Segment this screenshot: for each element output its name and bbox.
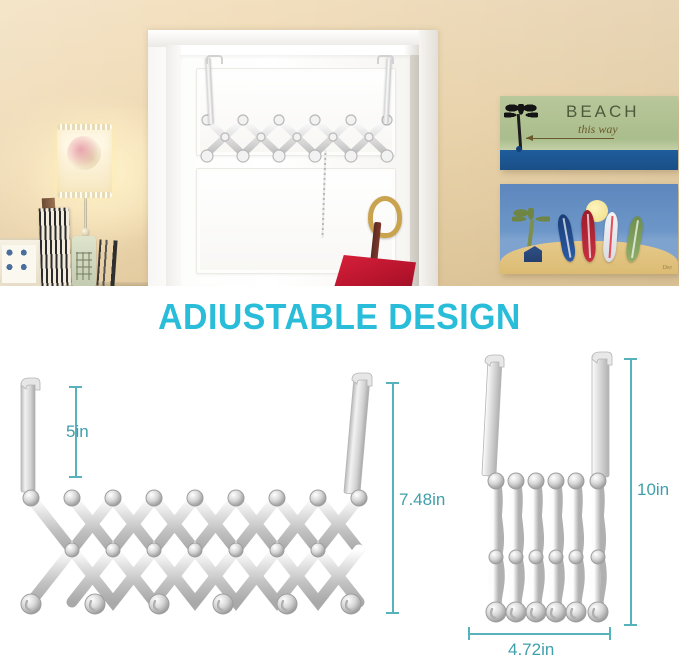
- expanded-rack-diagram: 5in 7.48in 22in: [0, 350, 440, 667]
- dim-748in-line: [392, 382, 394, 614]
- picture-frame-art: [2, 245, 36, 283]
- expanded-rack-drawing: [0, 350, 440, 667]
- door-jamb-left: [166, 45, 181, 286]
- dimension-diagrams: 5in 7.48in 22in: [0, 350, 679, 667]
- notebook-stack: [39, 208, 72, 286]
- wall-art-surfboards: Dee: [500, 184, 678, 274]
- collapsed-over-door-straps: [482, 352, 612, 477]
- dim-5in-cap-top: [69, 386, 82, 388]
- collapsed-rack-diagram: 10in 4.72in: [440, 350, 679, 667]
- lamp-bead-trim-bottom: [57, 192, 112, 198]
- dim-748in-cap-top: [386, 382, 399, 384]
- mounted-coat-rack: [195, 68, 400, 208]
- expanded-rivets: [23, 490, 367, 557]
- dim-10in-cap-top: [624, 358, 637, 360]
- over-door-hook-left-icon: [206, 55, 223, 64]
- collapsed-rivets: [488, 473, 606, 564]
- wall-art-beach-sign: BEACH this way: [500, 96, 678, 170]
- palm-tree-crown-icon: [504, 104, 538, 126]
- pen-holder: [96, 239, 117, 286]
- dim-10in-label: 10in: [637, 480, 669, 500]
- page-title: ADIUSTABLE DESIGN: [20, 296, 658, 338]
- mounted-rack-lattice: [195, 68, 400, 183]
- collapsed-hooks: [486, 602, 608, 622]
- over-door-hook-right-icon: [377, 55, 394, 64]
- infographic-page: BEACH this way Dee: [0, 0, 679, 667]
- beach-sign-subtext: this way: [578, 122, 618, 137]
- surfboard-4-stripe: [631, 220, 639, 258]
- dim-748in-label: 7.48in: [399, 490, 445, 510]
- coconut-icon: [516, 146, 522, 152]
- beach-sign-heading: BEACH: [566, 102, 640, 122]
- dim-748in-cap-bottom: [386, 612, 399, 614]
- collapsed-rack-drawing: [440, 350, 679, 667]
- surfboard-1-stripe: [562, 218, 571, 258]
- dim-472in-cap-right: [609, 627, 611, 640]
- lamp-shade: [57, 126, 112, 196]
- dim-10in-cap-bottom: [624, 624, 637, 626]
- cordless-phone: [72, 236, 96, 286]
- surfboard-2-stripe: [587, 214, 591, 258]
- collapsed-lattice: [493, 480, 601, 608]
- door-edge: [410, 55, 419, 286]
- lamp-bead-trim-top: [57, 124, 112, 130]
- lamp-shade-pattern: [67, 136, 101, 170]
- left-arrow-icon: [526, 138, 614, 139]
- picture-frame: [0, 238, 44, 286]
- dim-5in-label: 5in: [66, 422, 89, 442]
- dim-10in-line: [630, 358, 632, 626]
- dim-472in-cap-left: [468, 627, 470, 640]
- door-casing-right: [419, 30, 438, 286]
- lifestyle-photo: BEACH this way Dee: [0, 0, 679, 286]
- artist-signature: Dee: [662, 265, 672, 271]
- phone-keypad: [76, 252, 92, 280]
- dim-5in-cap-bottom: [69, 476, 82, 478]
- dim-472in-label: 4.72in: [508, 640, 554, 660]
- beach-sign-sea-band: [500, 150, 678, 170]
- dim-472in-line: [468, 633, 611, 635]
- surfboard-3-stripe: [608, 216, 613, 258]
